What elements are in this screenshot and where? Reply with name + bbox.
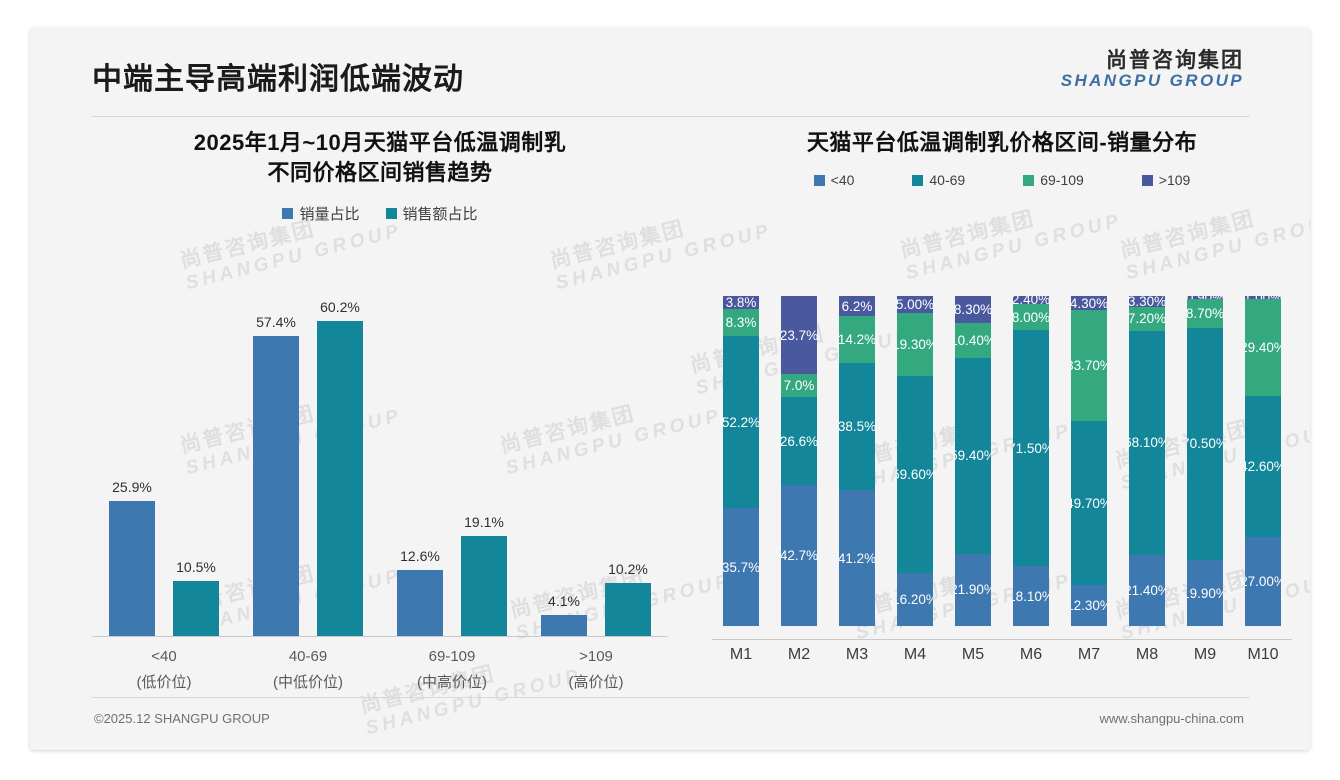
bar-group-<40: 25.9%10.5% <box>92 296 236 636</box>
stack-segment-label: 33.70% <box>1071 358 1107 373</box>
stack-segment-M4-<40[interactable]: 16.20% <box>897 573 933 626</box>
stack-segment-label: 70.50% <box>1187 436 1223 451</box>
stack-segment-M10-40-69[interactable]: 42.60% <box>1245 396 1281 537</box>
x-axis-label-range: 69-109 <box>382 644 522 670</box>
legend-item-label: 销量占比 <box>299 203 359 224</box>
stack-segment-label: 23.7% <box>781 328 817 343</box>
right-chart-title: 天猫平台低温调制乳价格区间-销量分布 <box>702 128 1302 158</box>
stacked-bar-M8[interactable]: 3.30%7.20%68.10%21.40% <box>1129 296 1165 639</box>
right-chart-plot-area: 3.8%8.3%52.2%35.7%23.7%7.0%26.6%42.7%6.2… <box>712 296 1292 639</box>
x-axis-label-M9: M9 <box>1175 646 1235 664</box>
stack-segment-label: 16.20% <box>897 592 933 607</box>
stack-segment-M8-40-69[interactable]: 68.10% <box>1129 331 1165 556</box>
stack-segment-M1-<40[interactable]: 35.7% <box>723 508 759 626</box>
page-title: 中端主导高端利润低端波动 <box>92 54 464 98</box>
left-chart-legend: 销量占比销售额占比 <box>70 203 690 224</box>
stacked-bar-M3[interactable]: 6.2%14.2%38.5%41.2% <box>839 296 875 639</box>
stack-segment-label: 7.20% <box>1129 311 1165 326</box>
stack-segment-label: 27.00% <box>1245 574 1281 589</box>
stack-segment-M9-40-69[interactable]: 70.50% <box>1187 328 1223 561</box>
stack-segment-M5->109[interactable]: 8.30% <box>955 296 991 323</box>
logo-english-text: SHANGPU GROUP <box>1061 72 1244 90</box>
x-axis-label-M6: M6 <box>1001 646 1061 664</box>
footer-divider <box>92 697 1250 698</box>
stack-segment-M6-40-69[interactable]: 71.50% <box>1013 330 1049 566</box>
bar->109-销售额占比[interactable]: 10.2% <box>605 296 651 636</box>
stack-segment-label: 18.10% <box>1013 589 1049 604</box>
stack-segment-M8-<40[interactable]: 21.40% <box>1129 555 1165 626</box>
stack-segment-label: 35.7% <box>723 560 759 575</box>
x-axis-label-range: <40 <box>94 644 234 670</box>
legend-swatch-icon <box>912 175 923 186</box>
stack-segment-label: 8.3% <box>726 315 757 330</box>
stacked-bar-M2[interactable]: 23.7%7.0%26.6%42.7% <box>781 296 817 639</box>
stacked-bar-M5[interactable]: 8.30%10.40%59.40%21.90% <box>955 296 991 639</box>
x-axis-label-<40: <40(低价位) <box>94 644 234 695</box>
stack-segment-M4->109[interactable]: 5.00% <box>897 296 933 313</box>
stack-segment-label: 10.40% <box>955 333 991 348</box>
stack-segment-label: 7.0% <box>784 378 815 393</box>
bar-40-69-销售额占比[interactable]: 60.2% <box>317 296 363 636</box>
logo-chinese-text: 尚普咨询集团 <box>1061 50 1244 72</box>
legend-item-label: 销售额占比 <box>403 203 478 224</box>
stack-segment-label: 68.10% <box>1129 435 1165 450</box>
stack-segment-M2-40-69[interactable]: 26.6% <box>781 397 817 485</box>
stack-segment-label: 59.40% <box>955 448 991 463</box>
bar-rect[interactable] <box>541 615 587 636</box>
stacked-bar-M4[interactable]: 5.00%19.30%59.60%16.20% <box>897 296 933 639</box>
stack-segment-M3-40-69[interactable]: 38.5% <box>839 363 875 490</box>
legend-swatch-icon <box>1023 175 1034 186</box>
stacked-bar-M7[interactable]: 4.30%33.70%49.70%12.30% <box>1071 296 1107 639</box>
stack-segment-M7-40-69[interactable]: 49.70% <box>1071 421 1107 585</box>
x-axis-label-M2: M2 <box>769 646 829 664</box>
x-axis-label-tier: (低价位) <box>94 670 234 696</box>
legend-item->109[interactable]: >109 <box>1142 172 1191 188</box>
stack-segment-M3-69-109[interactable]: 14.2% <box>839 316 875 363</box>
bar-rect[interactable] <box>253 336 299 636</box>
legend-item-label: <40 <box>831 172 855 188</box>
bar-rect[interactable] <box>461 536 507 636</box>
right-chart-legend: <4040-6969-109>109 <box>702 172 1302 188</box>
bar-value-label: 12.6% <box>400 548 440 564</box>
stack-segment-label: 8.30% <box>955 302 991 317</box>
left-chart-panel: 2025年1月~10月天猫平台低温调制乳 不同价格区间销售趋势 销量占比销售额占… <box>70 128 690 708</box>
bar-<40-销量占比[interactable]: 25.9% <box>109 296 155 636</box>
stack-segment-M4-69-109[interactable]: 19.30% <box>897 313 933 377</box>
stack-segment-label: 26.6% <box>781 434 817 449</box>
left-chart-x-labels: <40(低价位)40-69(中低价位)69-109(中高价位)>109(高价位) <box>92 644 668 708</box>
stack-segment-label: 2.40% <box>1013 296 1049 304</box>
bar-group->109: 4.1%10.2% <box>524 296 668 636</box>
stack-segment-M1-69-109[interactable]: 8.3% <box>723 309 759 336</box>
stack-segment-M5-40-69[interactable]: 59.40% <box>955 358 991 554</box>
stack-segment-label: 71.50% <box>1013 441 1049 456</box>
right-chart-x-axis <box>712 639 1292 640</box>
footer-copyright: ©2025.12 SHANGPU GROUP <box>94 711 270 726</box>
legend-swatch-icon <box>1142 175 1153 186</box>
stack-segment-label: 8.70% <box>1187 306 1223 321</box>
x-axis-label-range: >109 <box>526 644 666 670</box>
stack-segment-M7->109[interactable]: 4.30% <box>1071 296 1107 310</box>
stack-segment-label: 21.40% <box>1129 583 1165 598</box>
stack-segment-label: 38.5% <box>839 419 875 434</box>
stack-segment-M5-<40[interactable]: 21.90% <box>955 554 991 626</box>
legend-item-<40[interactable]: <40 <box>814 172 855 188</box>
bar-value-label: 25.9% <box>112 479 152 495</box>
left-chart-title-line2: 不同价格区间销售趋势 <box>70 158 690 188</box>
legend-item-40-69[interactable]: 40-69 <box>912 172 965 188</box>
legend-item-label: >109 <box>1159 172 1191 188</box>
left-chart-x-axis <box>92 636 668 637</box>
left-chart-title-line1: 2025年1月~10月天猫平台低温调制乳 <box>70 128 690 158</box>
stack-segment-M8->109[interactable]: 3.30% <box>1129 296 1165 307</box>
legend-swatch-icon <box>386 208 397 219</box>
x-axis-label-M10: M10 <box>1233 646 1293 664</box>
stack-segment-label: 42.60% <box>1245 459 1281 474</box>
stacked-bar-M10[interactable]: 1.00%29.40%42.60%27.00% <box>1245 296 1281 639</box>
bar-69-109-销售额占比[interactable]: 19.1% <box>461 296 507 636</box>
stacked-bar-M6[interactable]: 2.40%8.00%71.50%18.10% <box>1013 296 1049 639</box>
brand-logo: 尚普咨询集团 SHANGPU GROUP <box>1061 50 1244 90</box>
stack-segment-label: 52.2% <box>723 415 759 430</box>
bar-group-69-109: 12.6%19.1% <box>380 296 524 636</box>
stack-segment-M1-40-69[interactable]: 52.2% <box>723 336 759 508</box>
x-axis-label-M7: M7 <box>1059 646 1119 664</box>
legend-item-销售额占比[interactable]: 销售额占比 <box>386 203 478 224</box>
legend-item-69-109[interactable]: 69-109 <box>1023 172 1084 188</box>
x-axis-label-M4: M4 <box>885 646 945 664</box>
legend-swatch-icon <box>814 175 825 186</box>
stack-segment-label: 29.40% <box>1245 340 1281 355</box>
bar-value-label: 19.1% <box>464 514 504 530</box>
bar-rect[interactable] <box>109 501 155 636</box>
bar-group-40-69: 57.4%60.2% <box>236 296 380 636</box>
stack-segment-label: 41.2% <box>839 551 875 566</box>
right-chart-x-labels: M1M2M3M4M5M6M7M8M9M10 <box>712 646 1292 676</box>
slide-header: 中端主导高端利润低端波动 尚普咨询集团 SHANGPU GROUP <box>30 28 1310 118</box>
stack-segment-M5-69-109[interactable]: 10.40% <box>955 323 991 357</box>
x-axis-label-M3: M3 <box>827 646 887 664</box>
left-chart-plot-area: 25.9%10.5%57.4%60.2%12.6%19.1%4.1%10.2% <box>92 296 668 636</box>
stack-segment-label: 42.7% <box>781 548 817 563</box>
stack-segment-label: 12.30% <box>1071 598 1107 613</box>
bar-69-109-销量占比[interactable]: 12.6% <box>397 296 443 636</box>
x-axis-label->109: >109(高价位) <box>526 644 666 695</box>
stack-segment-label: 8.00% <box>1013 310 1049 325</box>
legend-item-销量占比[interactable]: 销量占比 <box>282 203 359 224</box>
stack-segment-M2-69-109[interactable]: 7.0% <box>781 374 817 397</box>
stack-segment-label: 4.30% <box>1071 296 1107 310</box>
x-axis-label-tier: (中高价位) <box>382 670 522 696</box>
stack-segment-label: 6.2% <box>842 299 873 314</box>
stack-segment-label: 5.00% <box>897 297 933 312</box>
bar-value-label: 10.5% <box>176 559 216 575</box>
stack-segment-label: 3.8% <box>726 296 757 309</box>
slide-canvas: 中端主导高端利润低端波动 尚普咨询集团 SHANGPU GROUP 尚普咨询集团… <box>30 28 1310 750</box>
bar-rect[interactable] <box>173 581 219 636</box>
stack-segment-M3-<40[interactable]: 41.2% <box>839 490 875 626</box>
stack-segment-label: 19.30% <box>897 337 933 352</box>
stacked-bar-M9[interactable]: 0.90%8.70%70.50%19.90% <box>1187 296 1223 639</box>
right-chart-panel: 天猫平台低温调制乳价格区间-销量分布 <4040-6969-109>109 3.… <box>702 128 1302 708</box>
x-axis-label-69-109: 69-109(中高价位) <box>382 644 522 695</box>
footer-website: www.shangpu-china.com <box>1099 711 1244 726</box>
stacked-bar-M1[interactable]: 3.8%8.3%52.2%35.7% <box>723 296 759 639</box>
stack-segment-label: 21.90% <box>955 582 991 597</box>
bar-value-label: 60.2% <box>320 299 360 315</box>
x-axis-label-M8: M8 <box>1117 646 1177 664</box>
bar-value-label: 10.2% <box>608 561 648 577</box>
stack-segment-M8-69-109[interactable]: 7.20% <box>1129 307 1165 331</box>
bar-<40-销售额占比[interactable]: 10.5% <box>173 296 219 636</box>
x-axis-label-40-69: 40-69(中低价位) <box>238 644 378 695</box>
stack-segment-M7-<40[interactable]: 12.30% <box>1071 585 1107 626</box>
bar-rect[interactable] <box>605 583 651 636</box>
stack-segment-label: 3.30% <box>1129 296 1165 307</box>
stack-segment-M2->109[interactable]: 23.7% <box>781 296 817 374</box>
legend-item-label: 40-69 <box>929 172 965 188</box>
header-divider <box>92 116 1250 117</box>
x-axis-label-tier: (高价位) <box>526 670 666 696</box>
x-axis-label-range: 40-69 <box>238 644 378 670</box>
bar-rect[interactable] <box>397 570 443 636</box>
bar-rect[interactable] <box>317 321 363 636</box>
stack-segment-M6-69-109[interactable]: 8.00% <box>1013 304 1049 330</box>
bar-value-label: 4.1% <box>548 593 580 609</box>
stack-segment-label: 14.2% <box>839 332 875 347</box>
stack-segment-label: 19.90% <box>1187 586 1223 601</box>
bar->109-销量占比[interactable]: 4.1% <box>541 296 587 636</box>
stack-segment-M4-40-69[interactable]: 59.60% <box>897 376 933 573</box>
stack-segment-label: 49.70% <box>1071 496 1107 511</box>
stack-segment-M1->109[interactable]: 3.8% <box>723 296 759 309</box>
stack-segment-label: 59.60% <box>897 467 933 482</box>
stack-segment-M10-<40[interactable]: 27.00% <box>1245 537 1281 626</box>
x-axis-label-M1: M1 <box>711 646 771 664</box>
left-chart-title: 2025年1月~10月天猫平台低温调制乳 不同价格区间销售趋势 <box>70 128 690 189</box>
legend-swatch-icon <box>282 208 293 219</box>
x-axis-label-M5: M5 <box>943 646 1003 664</box>
stack-segment-M9-69-109[interactable]: 8.70% <box>1187 299 1223 328</box>
stack-segment-M6-<40[interactable]: 18.10% <box>1013 566 1049 626</box>
stack-segment-M6->109[interactable]: 2.40% <box>1013 296 1049 304</box>
legend-item-label: 69-109 <box>1040 172 1084 188</box>
stack-segment-M9-<40[interactable]: 19.90% <box>1187 560 1223 626</box>
stack-segment-M2-<40[interactable]: 42.7% <box>781 485 817 626</box>
bar-40-69-销量占比[interactable]: 57.4% <box>253 296 299 636</box>
stack-segment-M10-69-109[interactable]: 29.40% <box>1245 299 1281 396</box>
stack-segment-M7-69-109[interactable]: 33.70% <box>1071 310 1107 421</box>
stack-segment-M3->109[interactable]: 6.2% <box>839 296 875 316</box>
x-axis-label-tier: (中低价位) <box>238 670 378 696</box>
bar-value-label: 57.4% <box>256 314 296 330</box>
